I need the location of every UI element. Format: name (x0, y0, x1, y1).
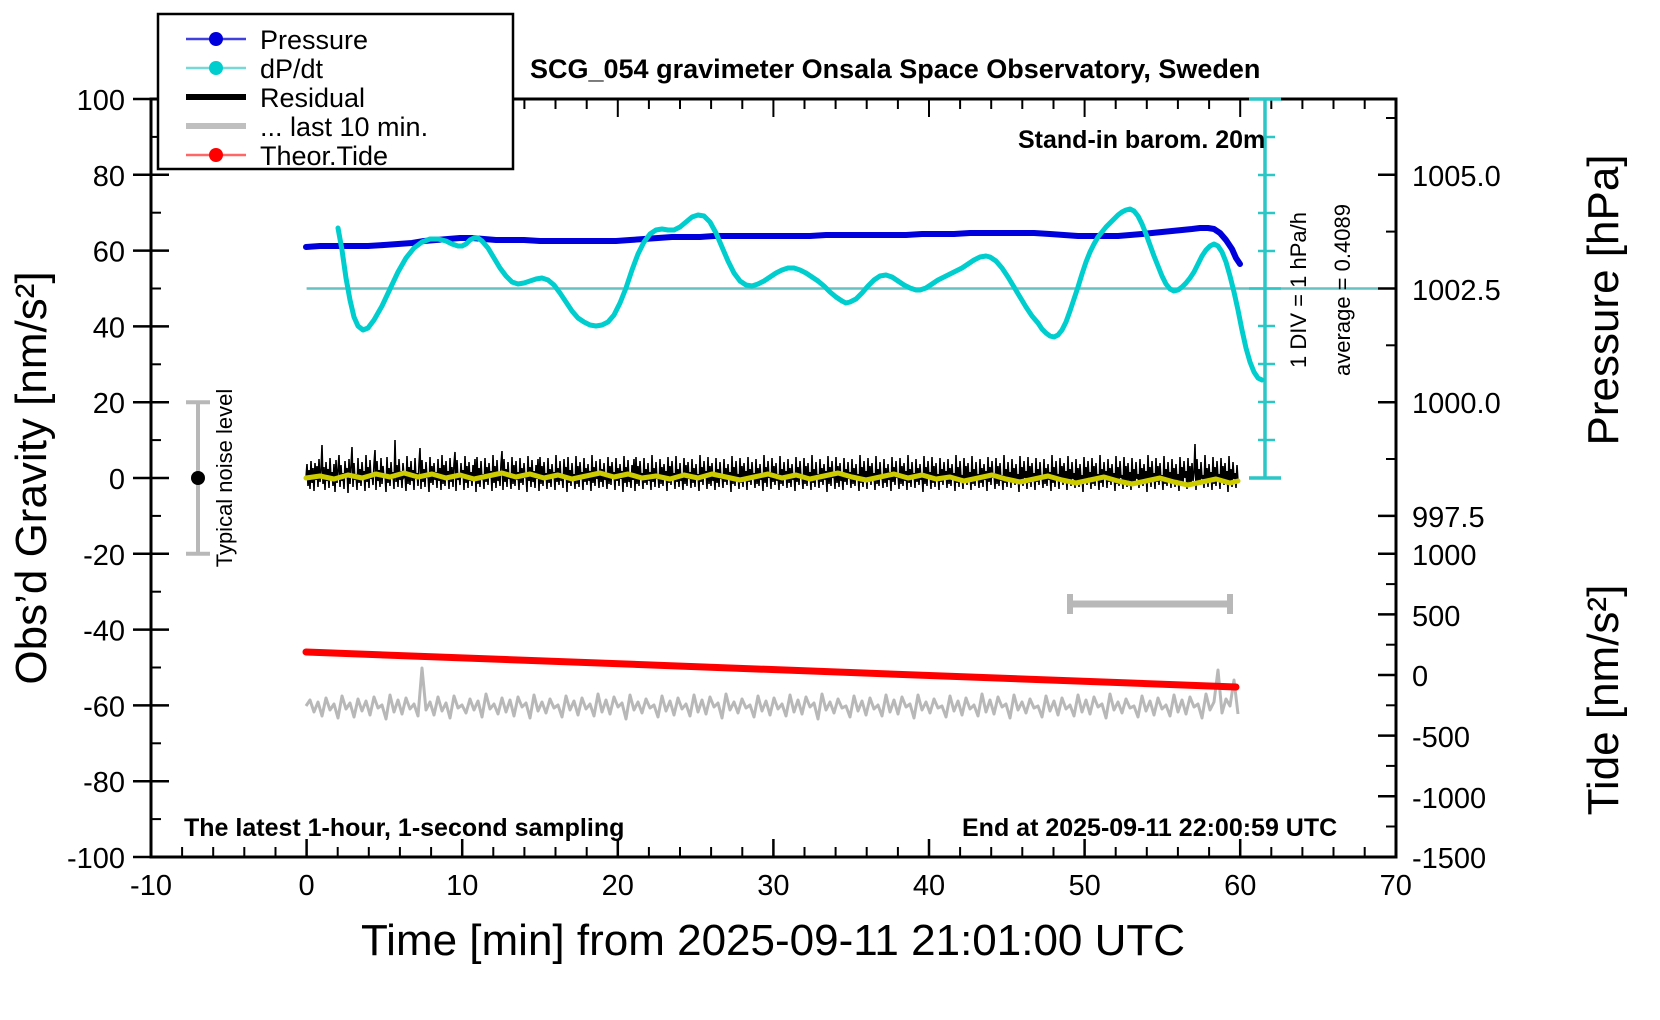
pressure-tick-label: 1000.0 (1412, 388, 1501, 420)
tide-tick-label: 500 (1412, 601, 1460, 633)
x-tick-label: -10 (130, 870, 172, 902)
tide-tick-label: -500 (1412, 722, 1470, 754)
standin-barom-annotation: Stand-in barom. 20m (1018, 126, 1265, 154)
tide-tick-label: -1000 (1412, 783, 1486, 815)
legend-label: Pressure (260, 25, 368, 55)
x-tick-label: 30 (757, 870, 789, 902)
x-tick-label: 40 (913, 870, 945, 902)
y-tick-label: -20 (83, 540, 125, 572)
legend-label: dP/dt (260, 54, 324, 84)
y-tick-label: 100 (77, 85, 125, 117)
pressure-tick-label: 1005.0 (1412, 161, 1501, 193)
y-tick-label: 40 (93, 312, 125, 344)
sampling-note-annotation: The latest 1-hour, 1-second sampling (184, 814, 624, 842)
y-tick-label: -60 (83, 691, 125, 723)
legend-label: Residual (260, 83, 365, 113)
y-axis-right-tide-title: Tide [nm/s²] (1579, 585, 1628, 816)
x-axis-title: Time [min] from 2025-09-11 21:01:00 UTC (361, 916, 1185, 965)
y-axis-left-title: Obs’d Gravity [nm/s²] (7, 271, 56, 684)
y-tick-label: 80 (93, 161, 125, 193)
y-tick-label: 0 (109, 464, 125, 496)
typical-noise-level-label: Typical noise level (212, 389, 237, 568)
x-tick-label: 50 (1068, 870, 1100, 902)
y-tick-label: -100 (67, 843, 125, 875)
div-scale-annotation: 1 DIV = 1 hPa/h (1286, 212, 1311, 368)
tide-tick-label: 1000 (1412, 540, 1477, 572)
dpdt-average-annotation: average = 0.4089 (1330, 204, 1355, 376)
y-axis-right-pressure-title: Pressure [hPa] (1579, 154, 1628, 445)
y-tick-label: -40 (83, 616, 125, 648)
chart-title: SCG_054 gravimeter Onsala Space Observat… (530, 54, 1260, 84)
tide-tick-label: -1500 (1412, 843, 1486, 875)
end-time-annotation: End at 2025-09-11 22:00:59 UTC (962, 814, 1337, 842)
x-tick-label: 0 (299, 870, 315, 902)
gravimeter-monitor-chart: -10 0 10 20 30 40 50 60 70 Time [min] fr… (0, 0, 1660, 1020)
x-tick-label: 10 (446, 870, 478, 902)
y-tick-label: 60 (93, 237, 125, 269)
legend-swatch-dot (209, 32, 223, 46)
legend[interactable]: Pressure dP/dt Residual ... last 10 min.… (158, 14, 513, 171)
pressure-tick-label: 1002.5 (1412, 275, 1501, 307)
x-tick-label: 70 (1380, 870, 1412, 902)
x-tick-label: 20 (602, 870, 634, 902)
pressure-tick-label: 997.5 (1412, 502, 1485, 534)
legend-label: ... last 10 min. (260, 112, 428, 142)
legend-swatch-dot (209, 61, 223, 75)
tide-tick-label: 0 (1412, 661, 1428, 693)
x-tick-label: 60 (1224, 870, 1256, 902)
y-tick-label: -80 (83, 767, 125, 799)
legend-swatch-dot (209, 148, 223, 162)
legend-label: Theor.Tide (260, 141, 388, 171)
y-tick-label: 20 (93, 388, 125, 420)
